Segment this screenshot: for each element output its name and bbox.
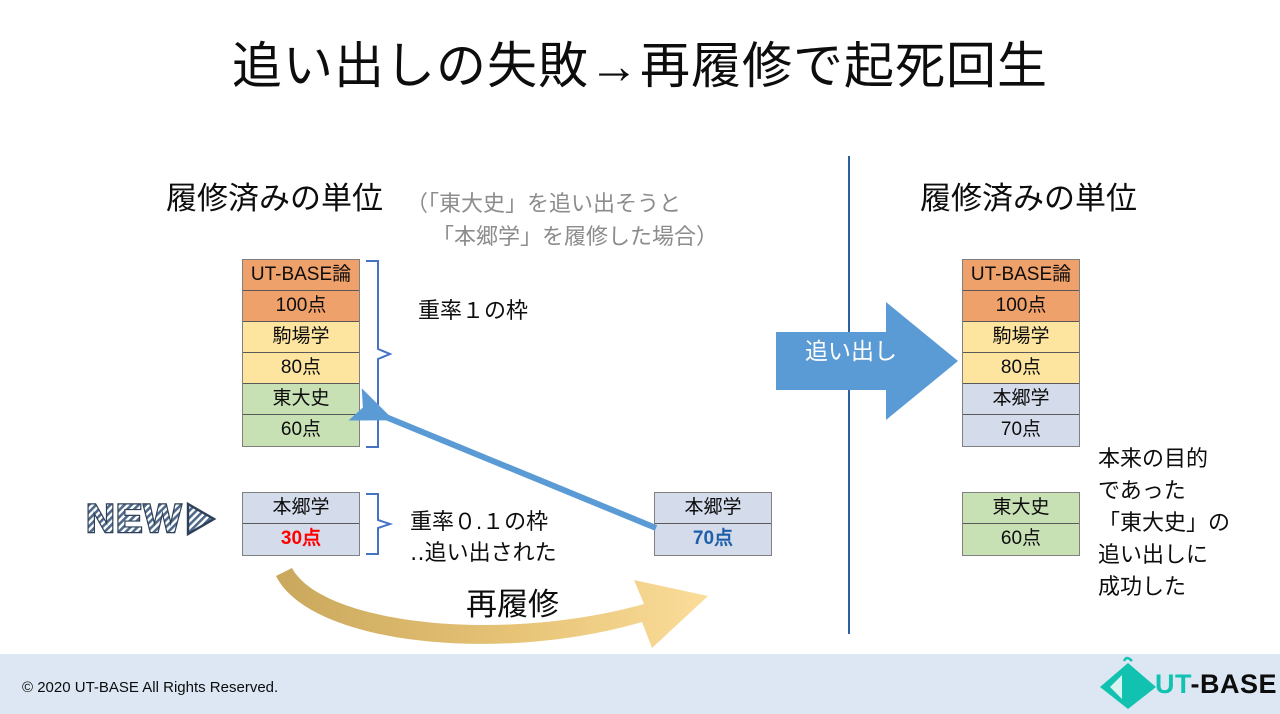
right-credit-table: UT-BASE論 100点 駒場学 80点 本郷学 70点 <box>962 259 1080 447</box>
logo-text-base: -BASE <box>1191 669 1278 699</box>
table-row: UT-BASE論 <box>963 260 1079 291</box>
left-panel-heading: 履修済みの単位 <box>166 180 383 218</box>
left-subnote-line2: 「本郷学」を履修した場合） <box>406 220 706 253</box>
copyright-text: © 2020 UT-BASE All Rights Reserved. <box>22 679 278 697</box>
table-row: 駒場学 <box>963 322 1079 353</box>
table-row: 本郷学 <box>963 384 1079 415</box>
new-badge-icon: NEW <box>84 494 232 542</box>
table-row: 70点 <box>655 524 771 555</box>
ut-base-logo-text: UT-BASE <box>1155 669 1277 699</box>
right-note-line5: 成功した <box>1098 571 1230 603</box>
left-subnote-line1: （「東大史」を追い出そうと <box>406 191 681 216</box>
table-row: 80点 <box>963 353 1079 384</box>
page-title: 追い出しの失敗→再履修で起死回生 <box>0 36 1280 96</box>
retake-arrow-label: 再履修 <box>466 586 559 624</box>
table-row: 駒場学 <box>243 322 359 353</box>
table-row: 100点 <box>243 291 359 322</box>
slide-canvas: 追い出しの失敗→再履修で起死回生 履修済みの単位 （「東大史」を追い出そうと 「… <box>0 0 1280 714</box>
table-row: 80点 <box>243 353 359 384</box>
label-weight-1: 重率１の枠 <box>418 295 528 326</box>
table-row: 100点 <box>963 291 1079 322</box>
right-note-line3: 「東大史」の <box>1098 507 1230 539</box>
table-row: 本郷学 <box>655 493 771 524</box>
logo-text-ut: UT <box>1155 669 1191 699</box>
right-panel-note: 本来の目的 であった 「東大史」の 追い出しに 成功した <box>1098 443 1230 603</box>
table-row: UT-BASE論 <box>243 260 359 291</box>
left-new-credit-table: 本郷学 30点 <box>242 492 360 556</box>
table-row: 70点 <box>963 415 1079 446</box>
right-todaishi-credit-table: 東大史 60点 <box>962 492 1080 556</box>
oshidashi-arrow-label: 追い出し <box>786 337 916 365</box>
left-panel-subnote: （「東大史」を追い出そうと 「本郷学」を履修した場合） <box>406 187 706 253</box>
left-credit-table: UT-BASE論 100点 駒場学 80点 東大史 60点 <box>242 259 360 447</box>
right-note-line2: であった <box>1098 475 1230 507</box>
right-panel-heading: 履修済みの単位 <box>920 180 1137 218</box>
table-row: 本郷学 <box>243 493 359 524</box>
diagonal-arrow-to-todaishi <box>350 390 670 535</box>
table-row: 60点 <box>963 524 1079 555</box>
table-row: 30点 <box>243 524 359 555</box>
svg-text:NEW: NEW <box>86 497 182 541</box>
right-note-line1: 本来の目的 <box>1098 443 1230 475</box>
table-row: 東大史 <box>963 493 1079 524</box>
middle-hongo-credit-table: 本郷学 70点 <box>654 492 772 556</box>
table-row: 東大史 <box>243 384 359 415</box>
right-note-line4: 追い出しに <box>1098 539 1230 571</box>
table-row: 60点 <box>243 415 359 446</box>
